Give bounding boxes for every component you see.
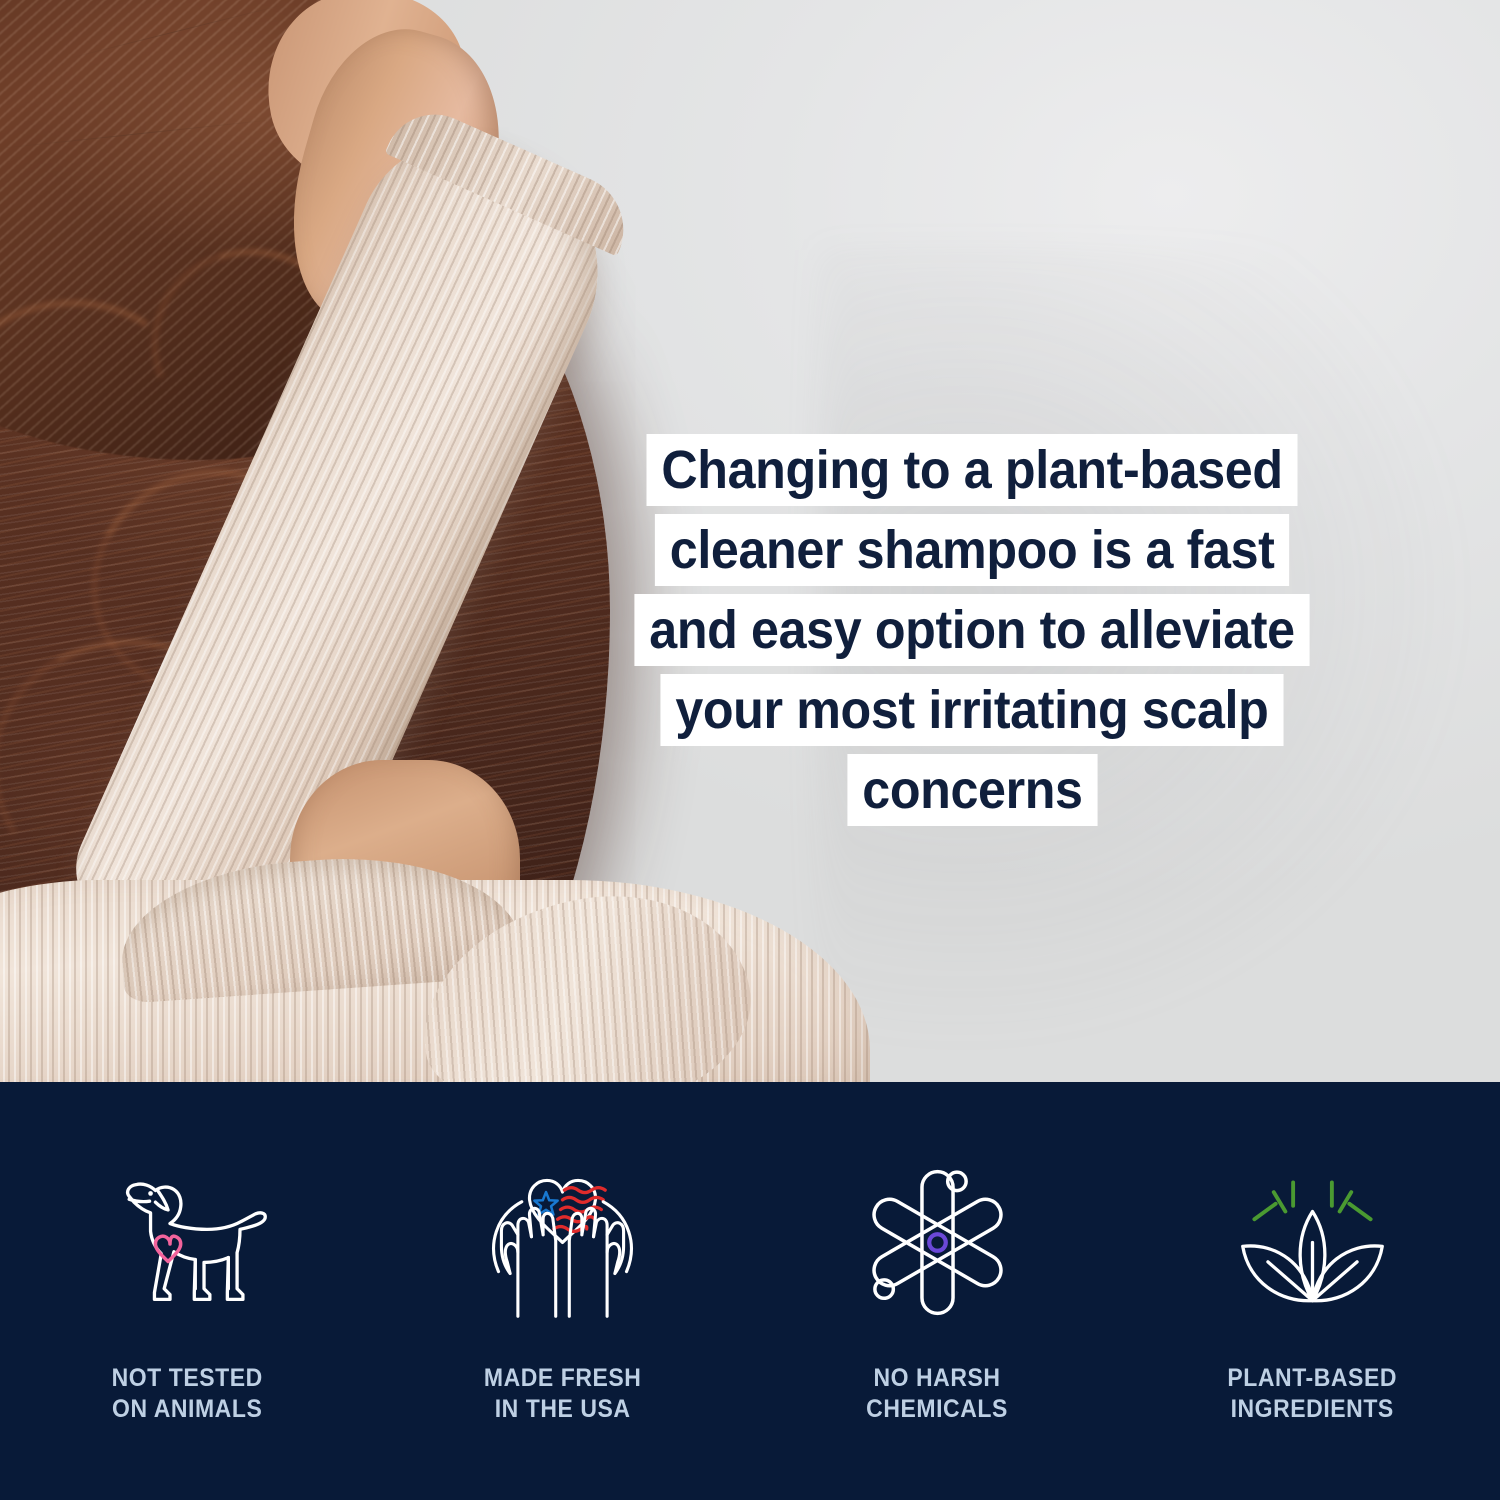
badge-label-line-2: CHEMICALS <box>867 1394 1009 1425</box>
badge-no-harsh-chemicals: NO HARSH CHEMICALS <box>788 1160 1088 1425</box>
atom-icon <box>850 1160 1025 1325</box>
headline-line-2: cleaner shampoo is a fast <box>655 514 1290 586</box>
badge-label-line-1: MADE FRESH <box>484 1363 642 1394</box>
hands-holding-usa-flag-heart-icon <box>475 1160 650 1325</box>
badge-label: NO HARSH CHEMICALS <box>867 1363 1009 1425</box>
headline-line-5: concerns <box>847 754 1097 826</box>
headline-line-3: and easy option to alleviate <box>634 594 1309 666</box>
badge-label: MADE FRESH IN THE USA <box>484 1363 642 1425</box>
headline-line-1: Changing to a plant-based <box>646 434 1297 506</box>
badge-label-line-1: NO HARSH <box>867 1363 1009 1394</box>
headline-line-4: your most irritating scalp <box>661 674 1284 746</box>
dog-with-heart-icon <box>100 1160 275 1325</box>
leaves-sparkle-icon <box>1225 1160 1400 1325</box>
badge-label-line-2: INGREDIENTS <box>1228 1394 1398 1425</box>
badge-label-line-1: PLANT-BASED <box>1228 1363 1398 1394</box>
promo-image: Changing to a plant-based cleaner shampo… <box>0 0 1500 1500</box>
badge-label-line-1: NOT TESTED <box>112 1363 263 1394</box>
badge-label-line-2: ON ANIMALS <box>112 1394 263 1425</box>
trust-badge-bar: NOT TESTED ON ANIMALS <box>0 1082 1500 1500</box>
headline: Changing to a plant-based cleaner shampo… <box>552 434 1392 826</box>
badge-not-tested-on-animals: NOT TESTED ON ANIMALS <box>38 1160 338 1425</box>
badge-made-fresh-in-the-usa: MADE FRESH IN THE USA <box>413 1160 713 1425</box>
badge-label: PLANT-BASED INGREDIENTS <box>1228 1363 1398 1425</box>
badge-label-line-2: IN THE USA <box>484 1394 642 1425</box>
badge-plant-based-ingredients: PLANT-BASED INGREDIENTS <box>1163 1160 1463 1425</box>
badge-label: NOT TESTED ON ANIMALS <box>112 1363 263 1425</box>
